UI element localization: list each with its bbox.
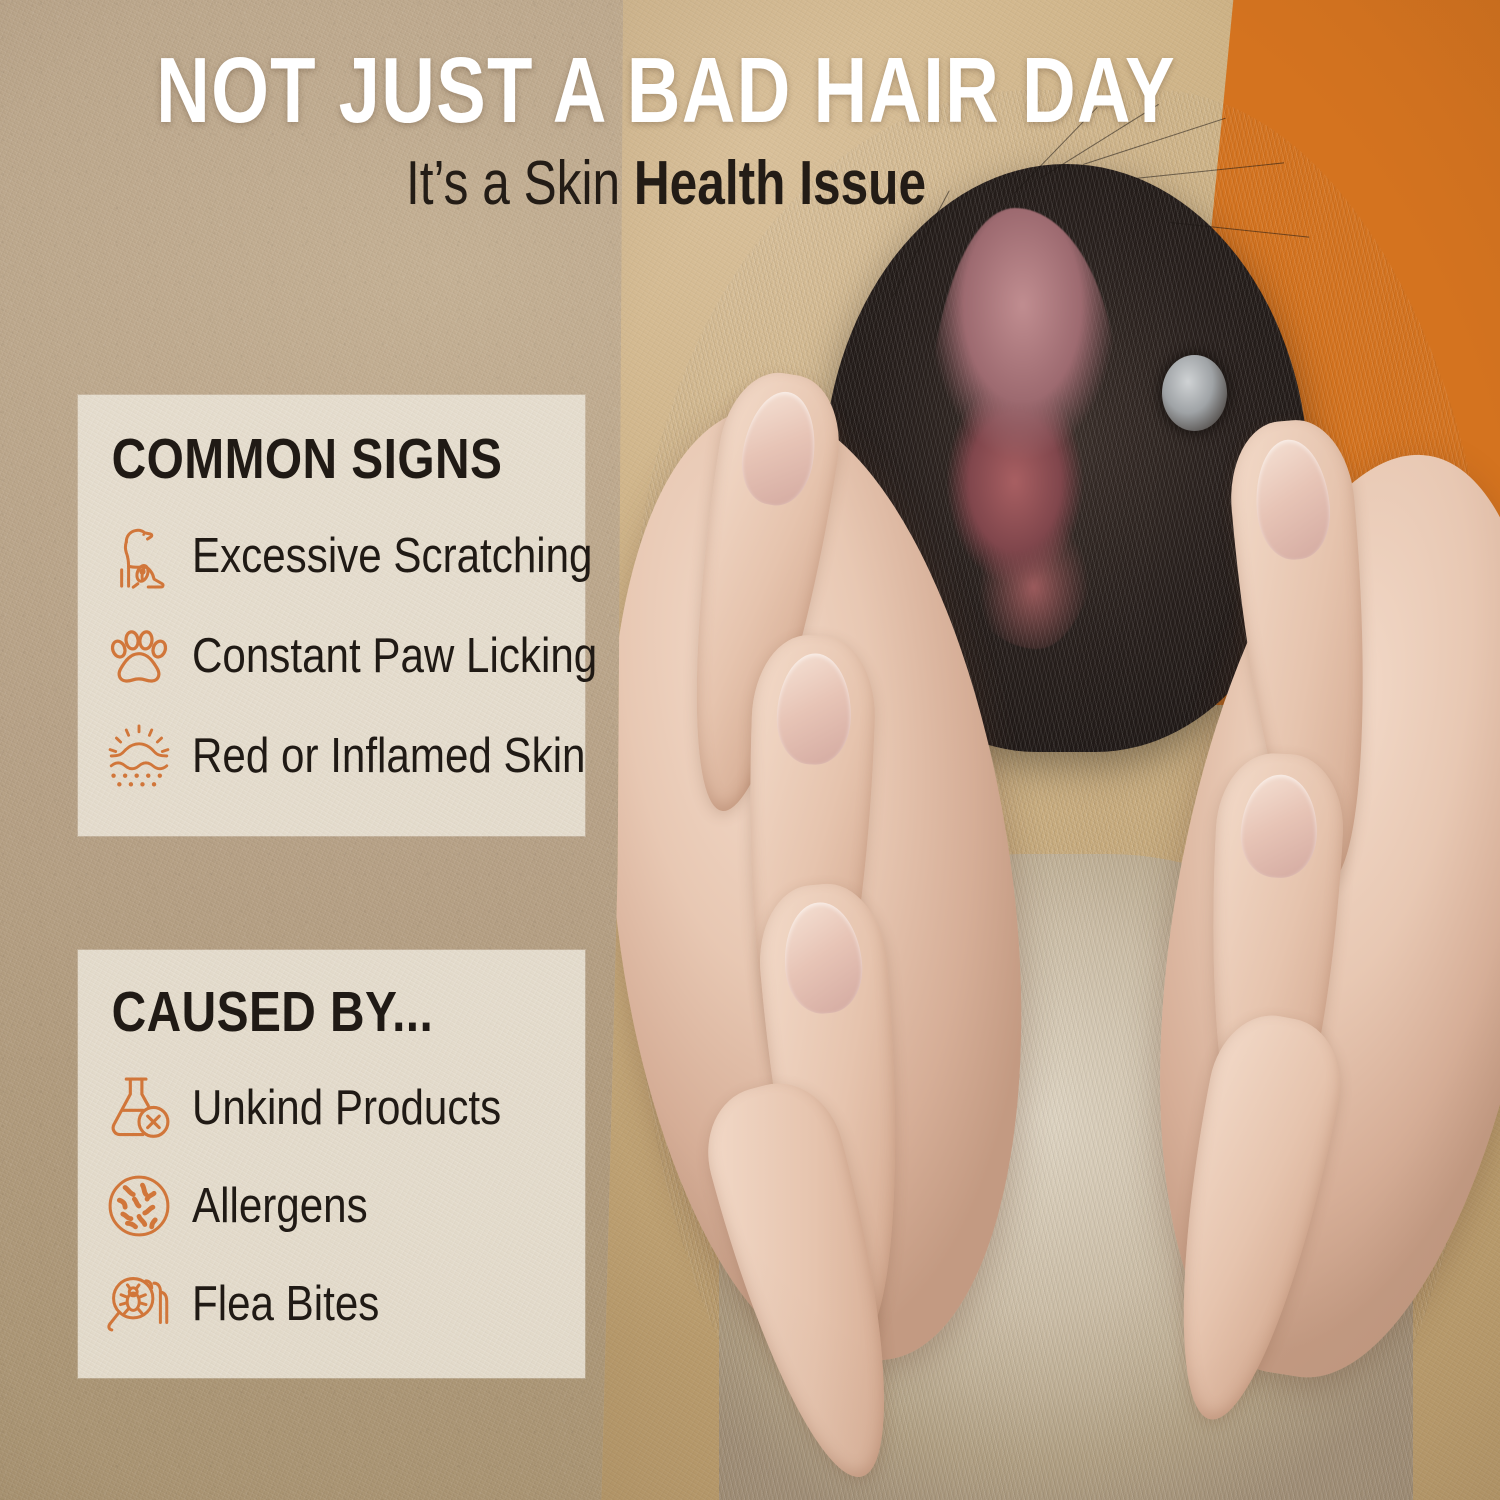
- paw-print-icon: [102, 617, 176, 695]
- card-common-signs: COMMON SIGNS: [78, 395, 585, 836]
- list-item: Constant Paw Licking: [78, 606, 585, 706]
- list-item: Red or Inflamed Skin: [78, 706, 585, 806]
- caused-by-list: Unkind Products: [78, 1059, 585, 1353]
- list-item: Excessive Scratching: [78, 506, 585, 606]
- fingernail: [1250, 437, 1334, 564]
- fingernail: [781, 900, 867, 1017]
- card-title-common-signs: COMMON SIGNS: [78, 395, 504, 488]
- list-item-label: Allergens: [192, 1182, 368, 1231]
- common-signs-list: Excessive Scratching Constant Paw Lickin…: [78, 506, 585, 806]
- fingernail: [735, 386, 824, 511]
- fingernail: [1239, 773, 1320, 879]
- list-item-label: Constant Paw Licking: [192, 632, 597, 681]
- header-block: NOT JUST A BAD HAIR DAY It’s a Skin Heal…: [0, 44, 1332, 215]
- card-title-caused-by: CAUSED BY...: [78, 950, 504, 1041]
- dog-eye-right: [1162, 355, 1227, 431]
- subtitle-light-part: It’s a Skin: [406, 149, 634, 218]
- inflamed-skin-icon: [102, 717, 176, 795]
- allergens-icon: [102, 1167, 176, 1245]
- page-title: NOT JUST A BAD HAIR DAY: [133, 44, 1199, 137]
- flea-magnifier-icon: [102, 1265, 176, 1343]
- list-item-label: Excessive Scratching: [192, 532, 593, 581]
- list-item: Flea Bites: [78, 1255, 585, 1353]
- dog-photo: [596, 0, 1500, 1500]
- subtitle-bold-part: Health Issue: [634, 149, 926, 218]
- flask-no-icon: [102, 1069, 176, 1147]
- poster-root: NOT JUST A BAD HAIR DAY It’s a Skin Heal…: [0, 0, 1500, 1500]
- card-caused-by: CAUSED BY... Unkind Products: [78, 950, 585, 1378]
- page-subtitle: It’s a Skin Health Issue: [133, 153, 1199, 215]
- fingernail: [775, 653, 853, 766]
- list-item-label: Red or Inflamed Skin: [192, 732, 586, 781]
- dog-scratching-icon: [102, 517, 176, 595]
- list-item-label: Flea Bites: [192, 1280, 379, 1329]
- list-item: Unkind Products: [78, 1059, 585, 1157]
- list-item-label: Unkind Products: [192, 1084, 501, 1133]
- inflamed-skin-lesion: [927, 208, 1118, 649]
- list-item: Allergens: [78, 1157, 585, 1255]
